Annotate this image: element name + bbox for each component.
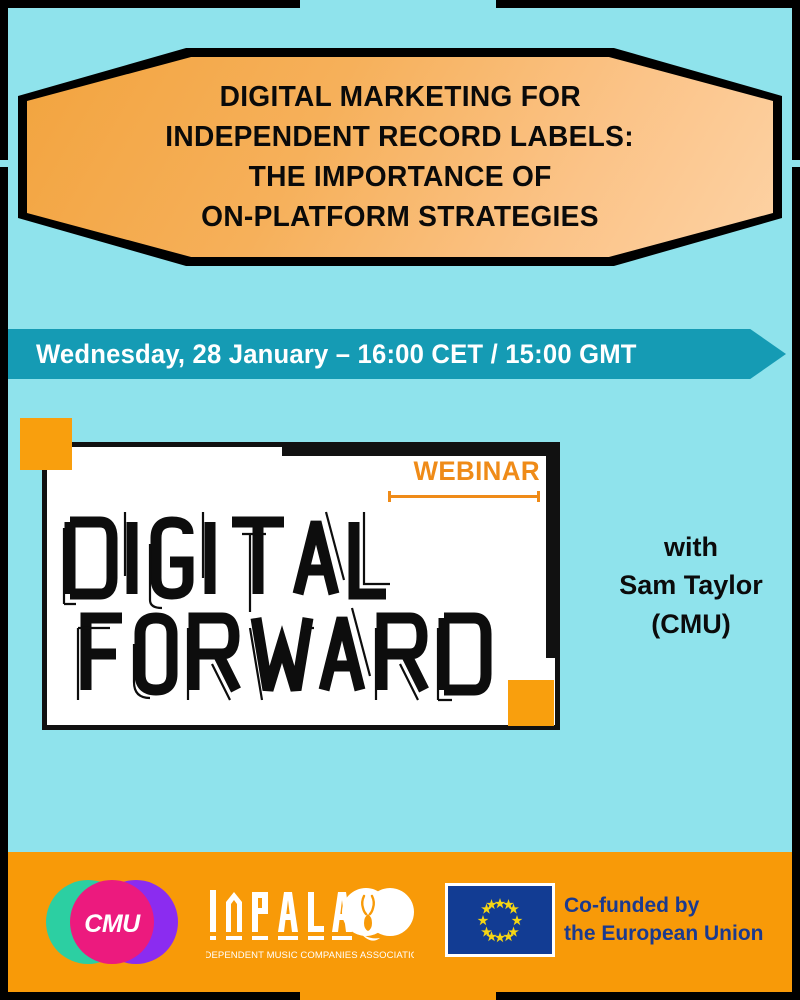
impala-wordmark bbox=[210, 890, 352, 940]
eu-flag bbox=[445, 883, 555, 957]
title-line-1: DIGITAL MARKETING FOR bbox=[219, 77, 580, 117]
speaker-block: with Sam Taylor (CMU) bbox=[596, 528, 786, 643]
webinar-poster: DIGITAL MARKETING FOR INDEPENDENT RECORD… bbox=[0, 0, 800, 1000]
title-banner-surface: DIGITAL MARKETING FOR INDEPENDENT RECORD… bbox=[27, 57, 773, 257]
right-edge-notch bbox=[791, 160, 800, 167]
top-edge-notch bbox=[300, 0, 496, 10]
footer-bar: CMU bbox=[8, 852, 792, 992]
brand-card-frame-heavy-top bbox=[282, 442, 560, 456]
left-edge-notch bbox=[0, 160, 9, 167]
brand-card: WEBINAR .gl-thick { fill:none; stroke:#0… bbox=[20, 418, 580, 738]
speaker-with-label: with bbox=[596, 528, 786, 566]
speaker-name: Sam Taylor bbox=[596, 566, 786, 604]
title-line-3: THE IMPORTANCE OF bbox=[249, 157, 552, 197]
webinar-underline bbox=[388, 491, 540, 502]
webinar-underline-cap-right bbox=[537, 491, 540, 502]
accent-square-top-left bbox=[20, 418, 72, 470]
speaker-organisation: (CMU) bbox=[596, 605, 786, 643]
accent-square-bottom-right bbox=[508, 680, 554, 726]
eu-credit-line-2: the European Union bbox=[564, 920, 794, 948]
cmu-logo: CMU bbox=[36, 874, 188, 970]
impala-tagline: INDEPENDENT MUSIC COMPANIES ASSOCIATION bbox=[206, 950, 414, 961]
title-line-4: ON-PLATFORM STRATEGIES bbox=[201, 197, 599, 237]
impala-head-mark bbox=[342, 888, 414, 941]
digital-forward-wordmark: .gl-thick { fill:none; stroke:#0d0d0d; s… bbox=[60, 504, 550, 704]
eu-flag-graphic bbox=[448, 886, 552, 954]
title-banner: DIGITAL MARKETING FOR INDEPENDENT RECORD… bbox=[18, 48, 782, 266]
impala-logo: INDEPENDENT MUSIC COMPANIES ASSOCIATION bbox=[206, 878, 414, 964]
webinar-underline-bar bbox=[388, 495, 540, 498]
date-time-text: Wednesday, 28 January – 16:00 CET / 15:0… bbox=[36, 339, 637, 370]
webinar-label: WEBINAR bbox=[394, 458, 540, 485]
date-time-banner: Wednesday, 28 January – 16:00 CET / 15:0… bbox=[8, 329, 786, 379]
webinar-tag: WEBINAR bbox=[388, 458, 540, 502]
eu-credit-line-1: Co-funded by bbox=[564, 892, 794, 920]
cmu-wordmark: CMU bbox=[84, 910, 141, 938]
eu-flag-field bbox=[448, 886, 552, 954]
title-line-2: INDEPENDENT RECORD LABELS: bbox=[166, 117, 635, 157]
eu-funding-credit: Co-funded by the European Union bbox=[564, 892, 794, 947]
